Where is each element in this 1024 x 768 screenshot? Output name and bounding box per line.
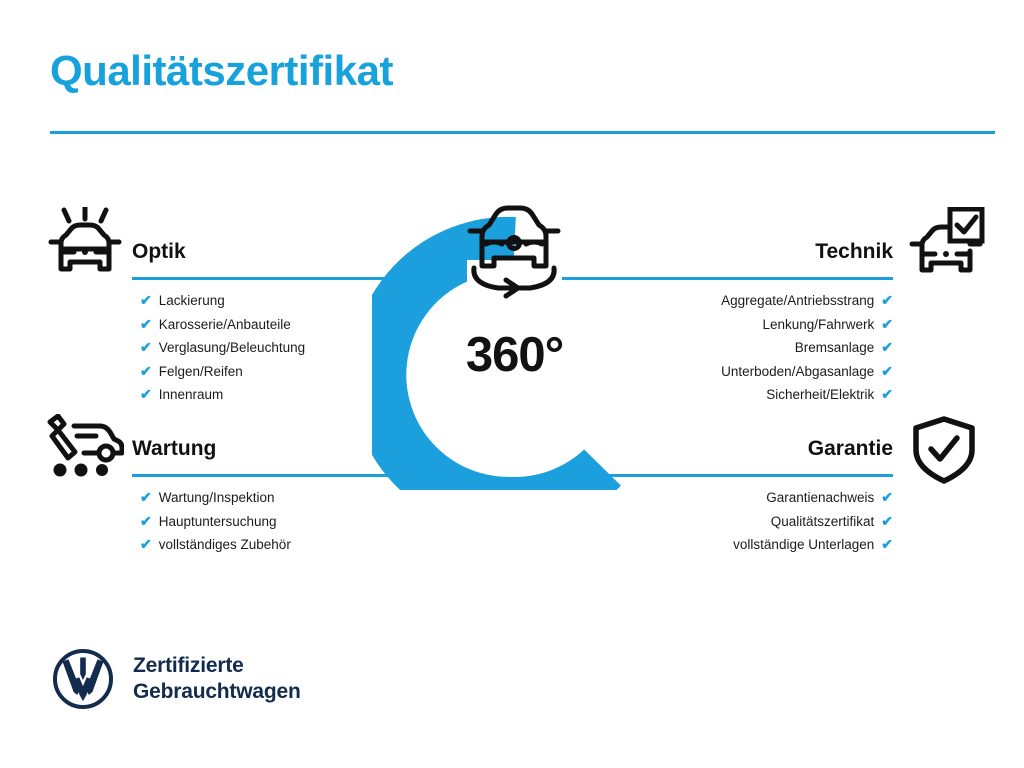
list-item: vollständige Unterlagen✔ xyxy=(550,533,893,557)
vw-certified-lockup: Zertifizierte Gebrauchtwagen xyxy=(52,648,301,710)
list-item-label: Verglasung/Beleuchtung xyxy=(159,336,305,360)
page-title: Qualitätszertifikat xyxy=(50,48,393,94)
pen-car-service-icon xyxy=(44,414,124,478)
check-icon: ✔ xyxy=(881,383,893,407)
check-icon: ✔ xyxy=(140,533,152,557)
list-item-label: vollständige Unterlagen xyxy=(733,533,874,557)
car-rotate-360-icon xyxy=(450,198,578,307)
list-item-label: Wartung/Inspektion xyxy=(159,486,275,510)
shield-check-icon xyxy=(911,416,977,484)
check-icon: ✔ xyxy=(140,510,152,534)
car-shine-icon xyxy=(46,207,124,277)
list-item-label: Innenraum xyxy=(159,383,224,407)
360-check-badge: Gebrauchtwagen-Check 360° xyxy=(372,190,657,490)
vw-text-line1: Zertifizierte xyxy=(133,653,301,679)
list-item-label: Unterboden/Abgasanlage xyxy=(721,360,874,384)
list-item-label: Felgen/Reifen xyxy=(159,360,243,384)
list-item-label: Lenkung/Fahrwerk xyxy=(762,313,874,337)
list-item-label: vollständiges Zubehör xyxy=(159,533,291,557)
check-icon: ✔ xyxy=(140,360,152,384)
list-item: Qualitätszertifikat✔ xyxy=(550,510,893,534)
list-item-label: Qualitätszertifikat xyxy=(771,510,875,534)
check-icon: ✔ xyxy=(140,336,152,360)
list-item-label: Lackierung xyxy=(159,289,225,313)
degrees-label: 360° xyxy=(372,327,657,383)
check-icon: ✔ xyxy=(881,360,893,384)
check-icon: ✔ xyxy=(881,289,893,313)
list-item-label: Bremsanlage xyxy=(795,336,875,360)
list-item-label: Hauptuntersuchung xyxy=(159,510,277,534)
title-divider xyxy=(50,131,995,134)
check-icon: ✔ xyxy=(881,486,893,510)
list-item-label: Sicherheit/Elektrik xyxy=(766,383,874,407)
check-icon: ✔ xyxy=(881,336,893,360)
check-icon: ✔ xyxy=(140,289,152,313)
certificate-page: Qualitätszertifikat Optik xyxy=(0,0,1024,768)
car-checkbox-icon xyxy=(906,207,986,277)
list-item-label: Aggregate/Antriebsstrang xyxy=(721,289,874,313)
volkswagen-logo xyxy=(52,648,114,710)
list-item-label: Karosserie/Anbauteile xyxy=(159,313,291,337)
check-icon: ✔ xyxy=(140,383,152,407)
list-item: ✔vollständiges Zubehör xyxy=(132,533,472,557)
vw-text-line2: Gebrauchtwagen xyxy=(133,679,301,705)
list-item: ✔Hauptuntersuchung xyxy=(132,510,472,534)
check-icon: ✔ xyxy=(881,510,893,534)
check-icon: ✔ xyxy=(140,486,152,510)
check-icon: ✔ xyxy=(881,533,893,557)
list-item-label: Garantienachweis xyxy=(766,486,874,510)
vw-certified-text: Zertifizierte Gebrauchtwagen xyxy=(133,653,301,705)
check-icon: ✔ xyxy=(140,313,152,337)
check-icon: ✔ xyxy=(881,313,893,337)
